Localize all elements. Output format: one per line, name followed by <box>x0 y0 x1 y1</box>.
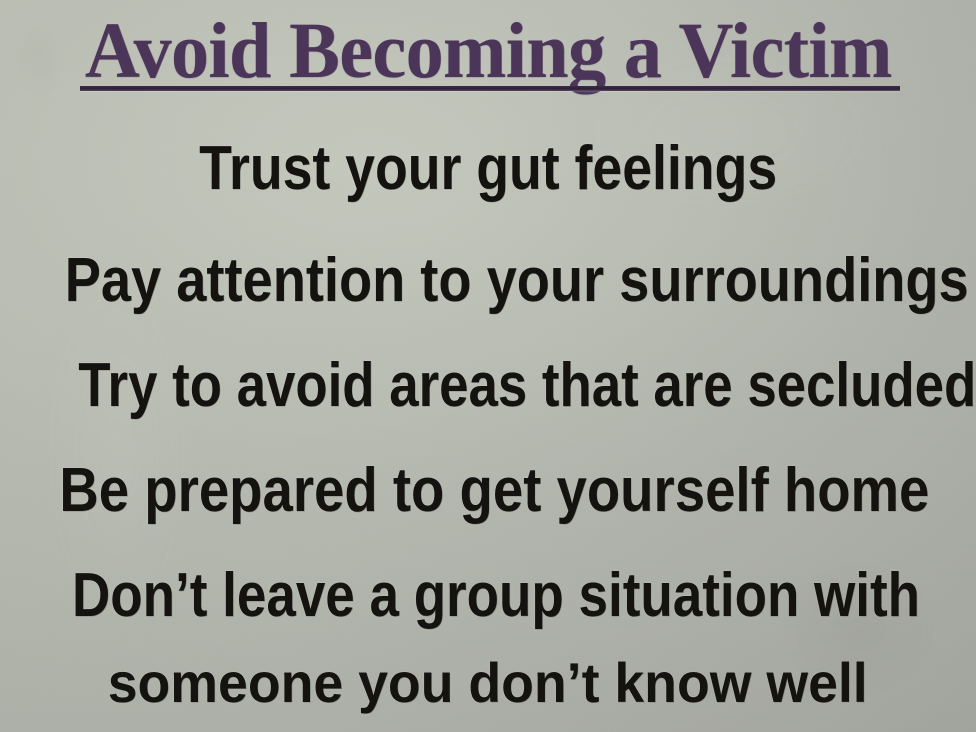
poster-line-5-text: Don’t leave a group situation with <box>72 565 920 627</box>
poster-line-4-text: Be prepared to get yourself home <box>59 460 929 522</box>
poster-line-4: Be prepared to get yourself home <box>0 460 976 522</box>
poster-line-6-text: someone you don’t know well <box>108 655 868 711</box>
poster-line-5: Don’t leave a group situation with <box>0 565 976 627</box>
poster-line-2: Pay attention to your surroundings <box>0 250 976 312</box>
heading-underline <box>80 86 900 91</box>
poster-heading: Avoid Becoming a Victim <box>75 8 901 93</box>
poster-line-6: someone you don’t know well <box>0 655 976 711</box>
poster-line-1: Trust your gut feelings <box>0 138 976 200</box>
poster-content: Avoid Becoming a Victim Trust your gut f… <box>0 0 976 732</box>
poster-heading-container: Avoid Becoming a Victim <box>0 8 976 93</box>
poster-line-3: Try to avoid areas that are secluded <box>0 355 976 417</box>
poster-line-2-text: Pay attention to your surroundings <box>65 250 969 312</box>
safety-poster: Avoid Becoming a Victim Trust your gut f… <box>0 0 976 732</box>
poster-line-1-text: Trust your gut feelings <box>199 138 777 200</box>
poster-line-3-text: Try to avoid areas that are secluded <box>78 355 976 417</box>
